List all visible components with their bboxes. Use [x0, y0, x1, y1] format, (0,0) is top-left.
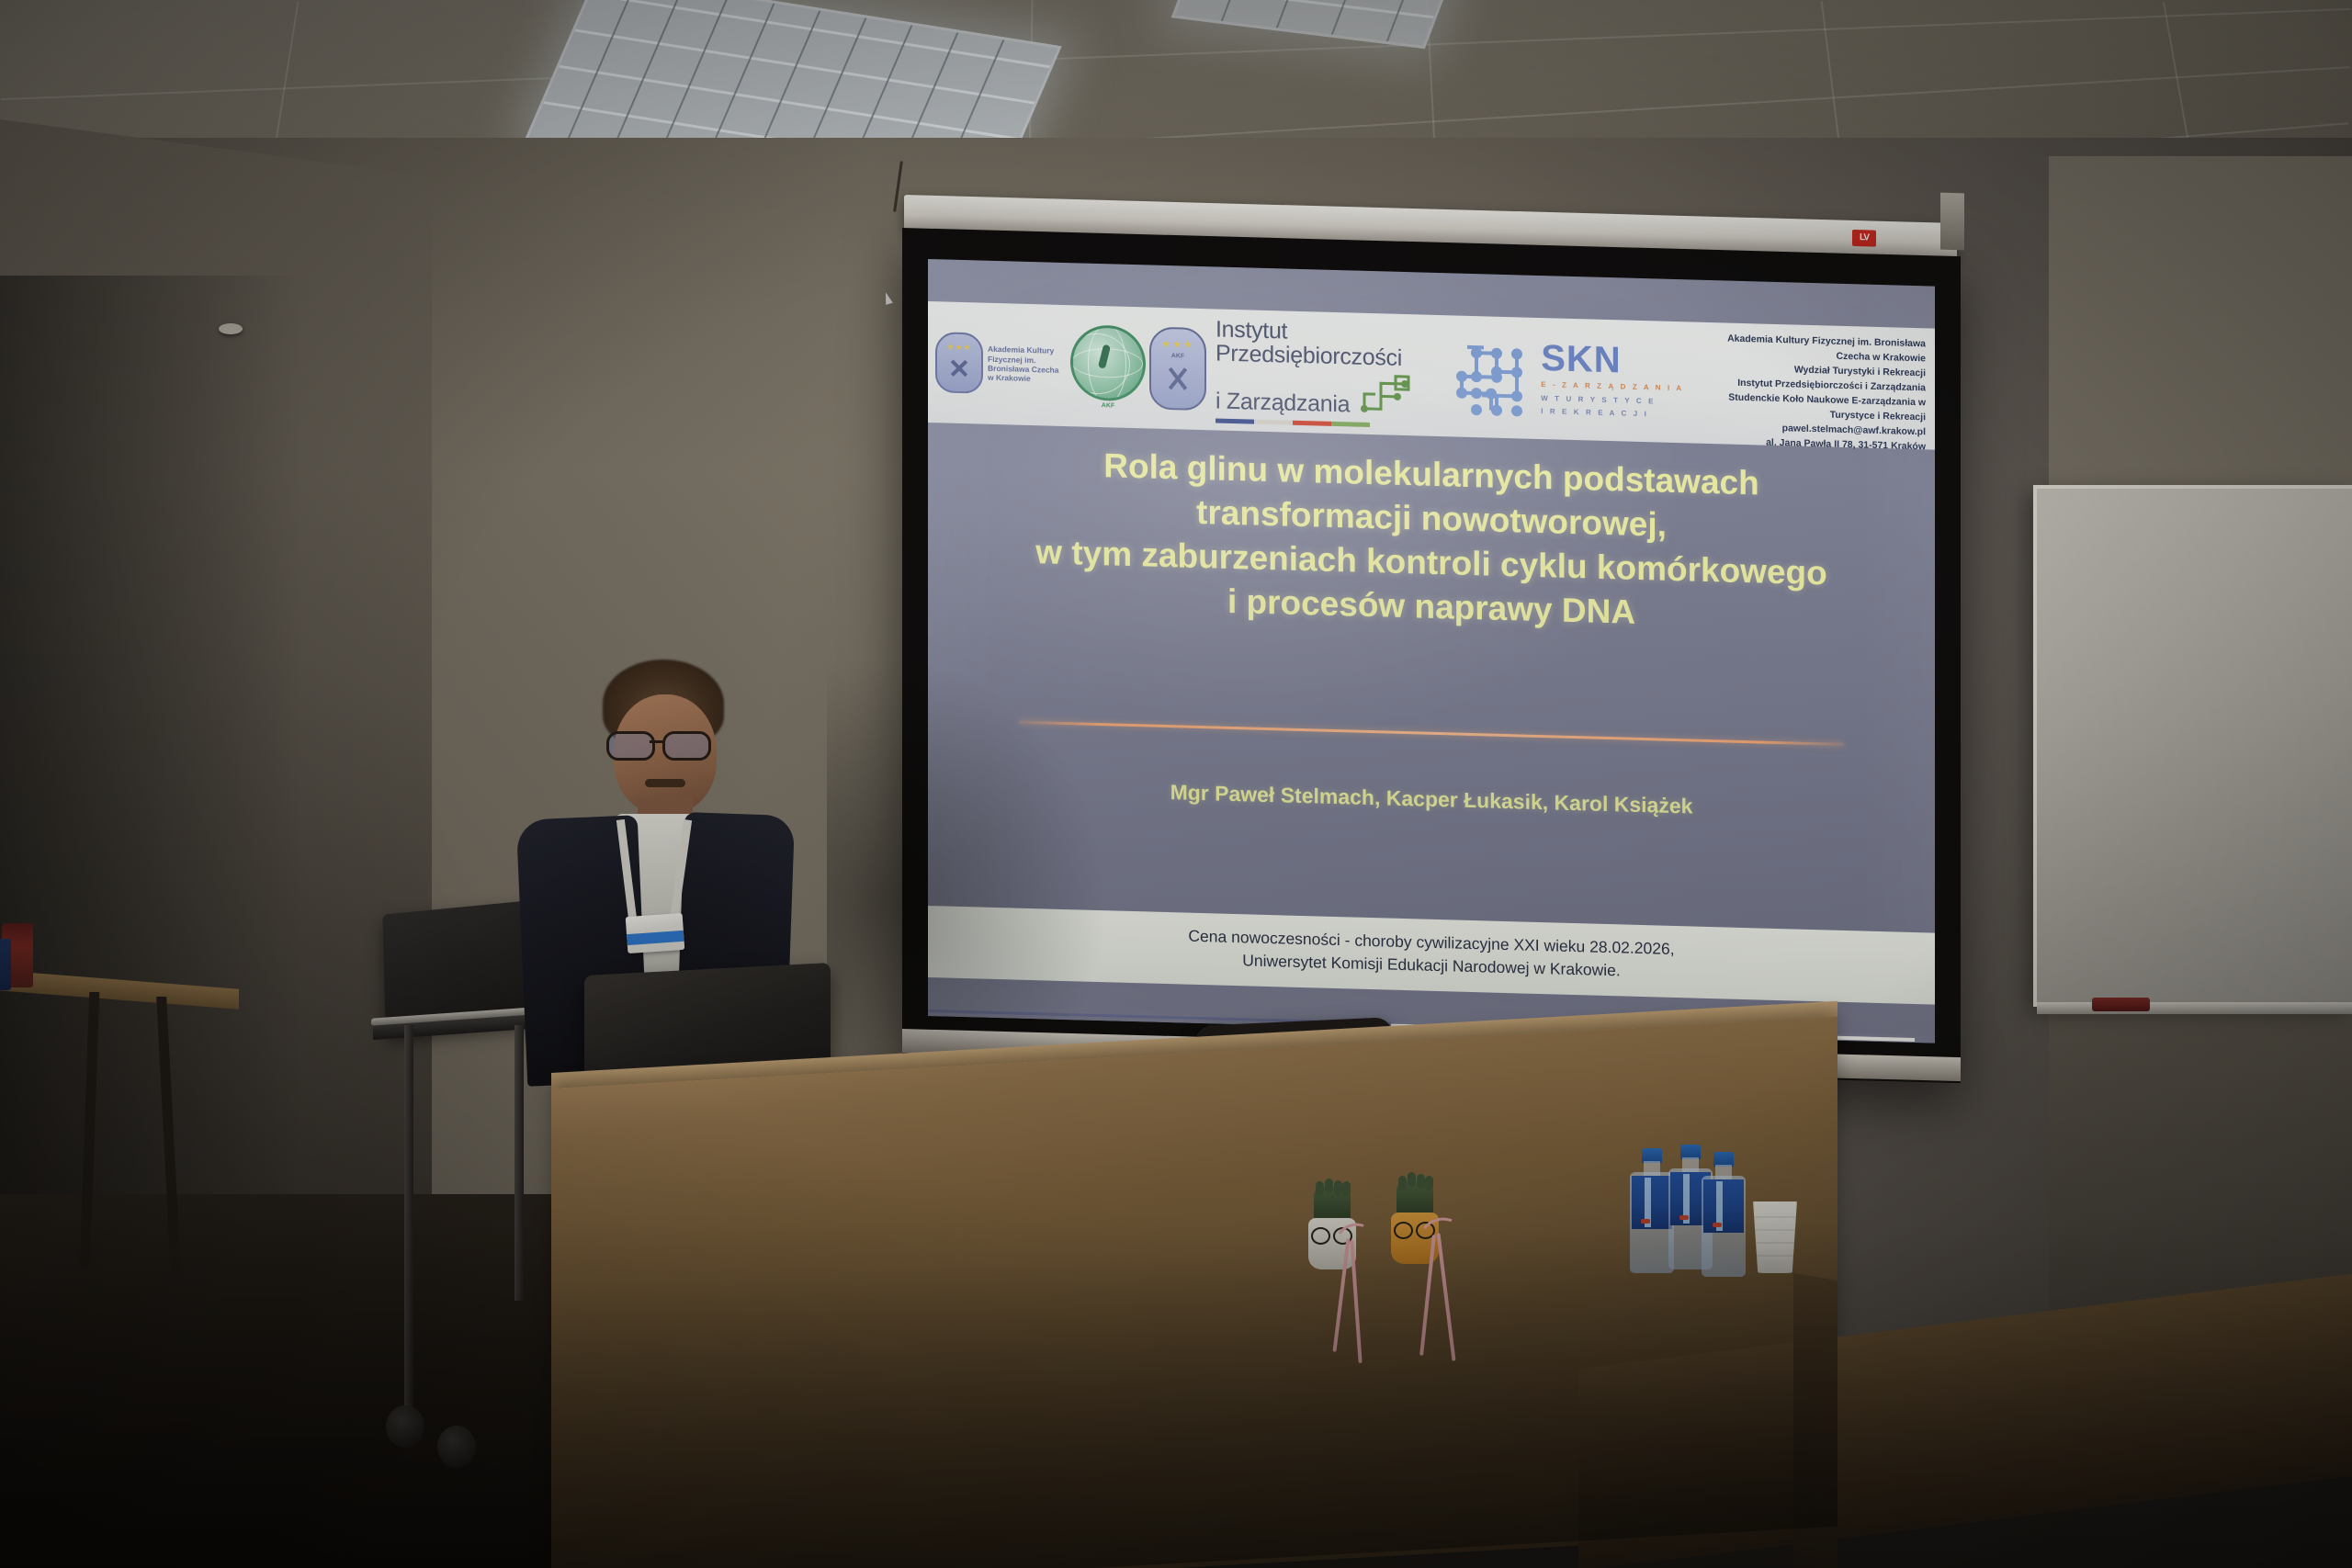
presenter-moustache: [645, 779, 685, 787]
instytut-line-1: Instytut: [1216, 317, 1287, 344]
shield-icon: ★★★: [935, 332, 983, 393]
water-bottle: [1630, 1148, 1674, 1273]
crest-label: AKF: [1151, 353, 1204, 361]
smoke-detector-icon: [219, 323, 243, 334]
blue-bottle: [0, 939, 11, 990]
title-divider-rule: [1019, 721, 1845, 746]
crest-icon: ★★★ AKF: [1149, 327, 1206, 412]
whiteboard-eraser: [2092, 998, 2150, 1011]
podium-right-edge: [1793, 1273, 1837, 1568]
instytut-logo: Instytut Przedsiębiorczości i Zarządzani…: [1216, 314, 1414, 430]
globe-icon: [1070, 324, 1146, 401]
slide-header-band: ★★★ Akademia Kultury Fizycznej im. Broni…: [928, 301, 1935, 450]
cactus-figurine-orange: [1389, 1181, 1441, 1269]
whiteboard: [2033, 485, 2352, 1007]
skn-sub-line-1: E - Z A R Z Ą D Z A N I A: [1541, 380, 1684, 392]
skn-network-icon: [1449, 333, 1533, 420]
ceiling-light-panel: [1171, 0, 1453, 49]
skn-network-logo: SKN E - Z A R Z Ą D Z A N I A W T U R Y …: [1449, 333, 1684, 424]
bottle-label: [1703, 1179, 1744, 1233]
cart-wheel: [386, 1405, 424, 1448]
cactus-figurine-white: [1306, 1187, 1358, 1275]
whiteboard-tray: [2037, 1002, 2352, 1014]
conference-badge: [626, 913, 685, 953]
akf-shield-logo: ★★★ Akademia Kultury Fizycznej im. Broni…: [935, 307, 1067, 421]
paper-cup: [1751, 1201, 1799, 1273]
instytut-color-bar: [1216, 418, 1370, 427]
network-flow-icon: [1357, 369, 1414, 419]
slide-address-block: Akademia Kultury Fizycznej im. Bronisław…: [1684, 321, 1935, 449]
bottle-label: [1632, 1176, 1672, 1229]
skn-acronym: SKN: [1541, 340, 1684, 380]
screen-brand-badge: LV: [1852, 230, 1876, 247]
akf-logo-caption: Akademia Kultury Fizycznej im. Bronisław…: [988, 344, 1067, 385]
skn-sub-line-3: I R E K R E A C J I: [1541, 407, 1648, 418]
cart-wheel: [437, 1426, 476, 1468]
cart-post: [404, 1025, 413, 1411]
screen-housing-endcap: [1940, 193, 1964, 251]
globe-logo-caption: AKF: [1102, 402, 1114, 409]
conference-room-photo: LV ★★★ Akademia Kultury Fizycznej im. Br…: [0, 0, 2352, 1568]
water-bottle: [1702, 1152, 1746, 1277]
akf-crest-logo: ★★★ AKF: [1149, 313, 1206, 425]
slide-title: Rola glinu w molekularnych podstawach tr…: [928, 439, 1935, 643]
green-globe-logo: AKF: [1070, 310, 1146, 423]
skn-sub-line-2: W T U R Y S T Y C E: [1541, 394, 1656, 405]
instytut-line-3: i Zarządzania: [1216, 389, 1350, 416]
glasses-icon: [606, 731, 728, 755]
